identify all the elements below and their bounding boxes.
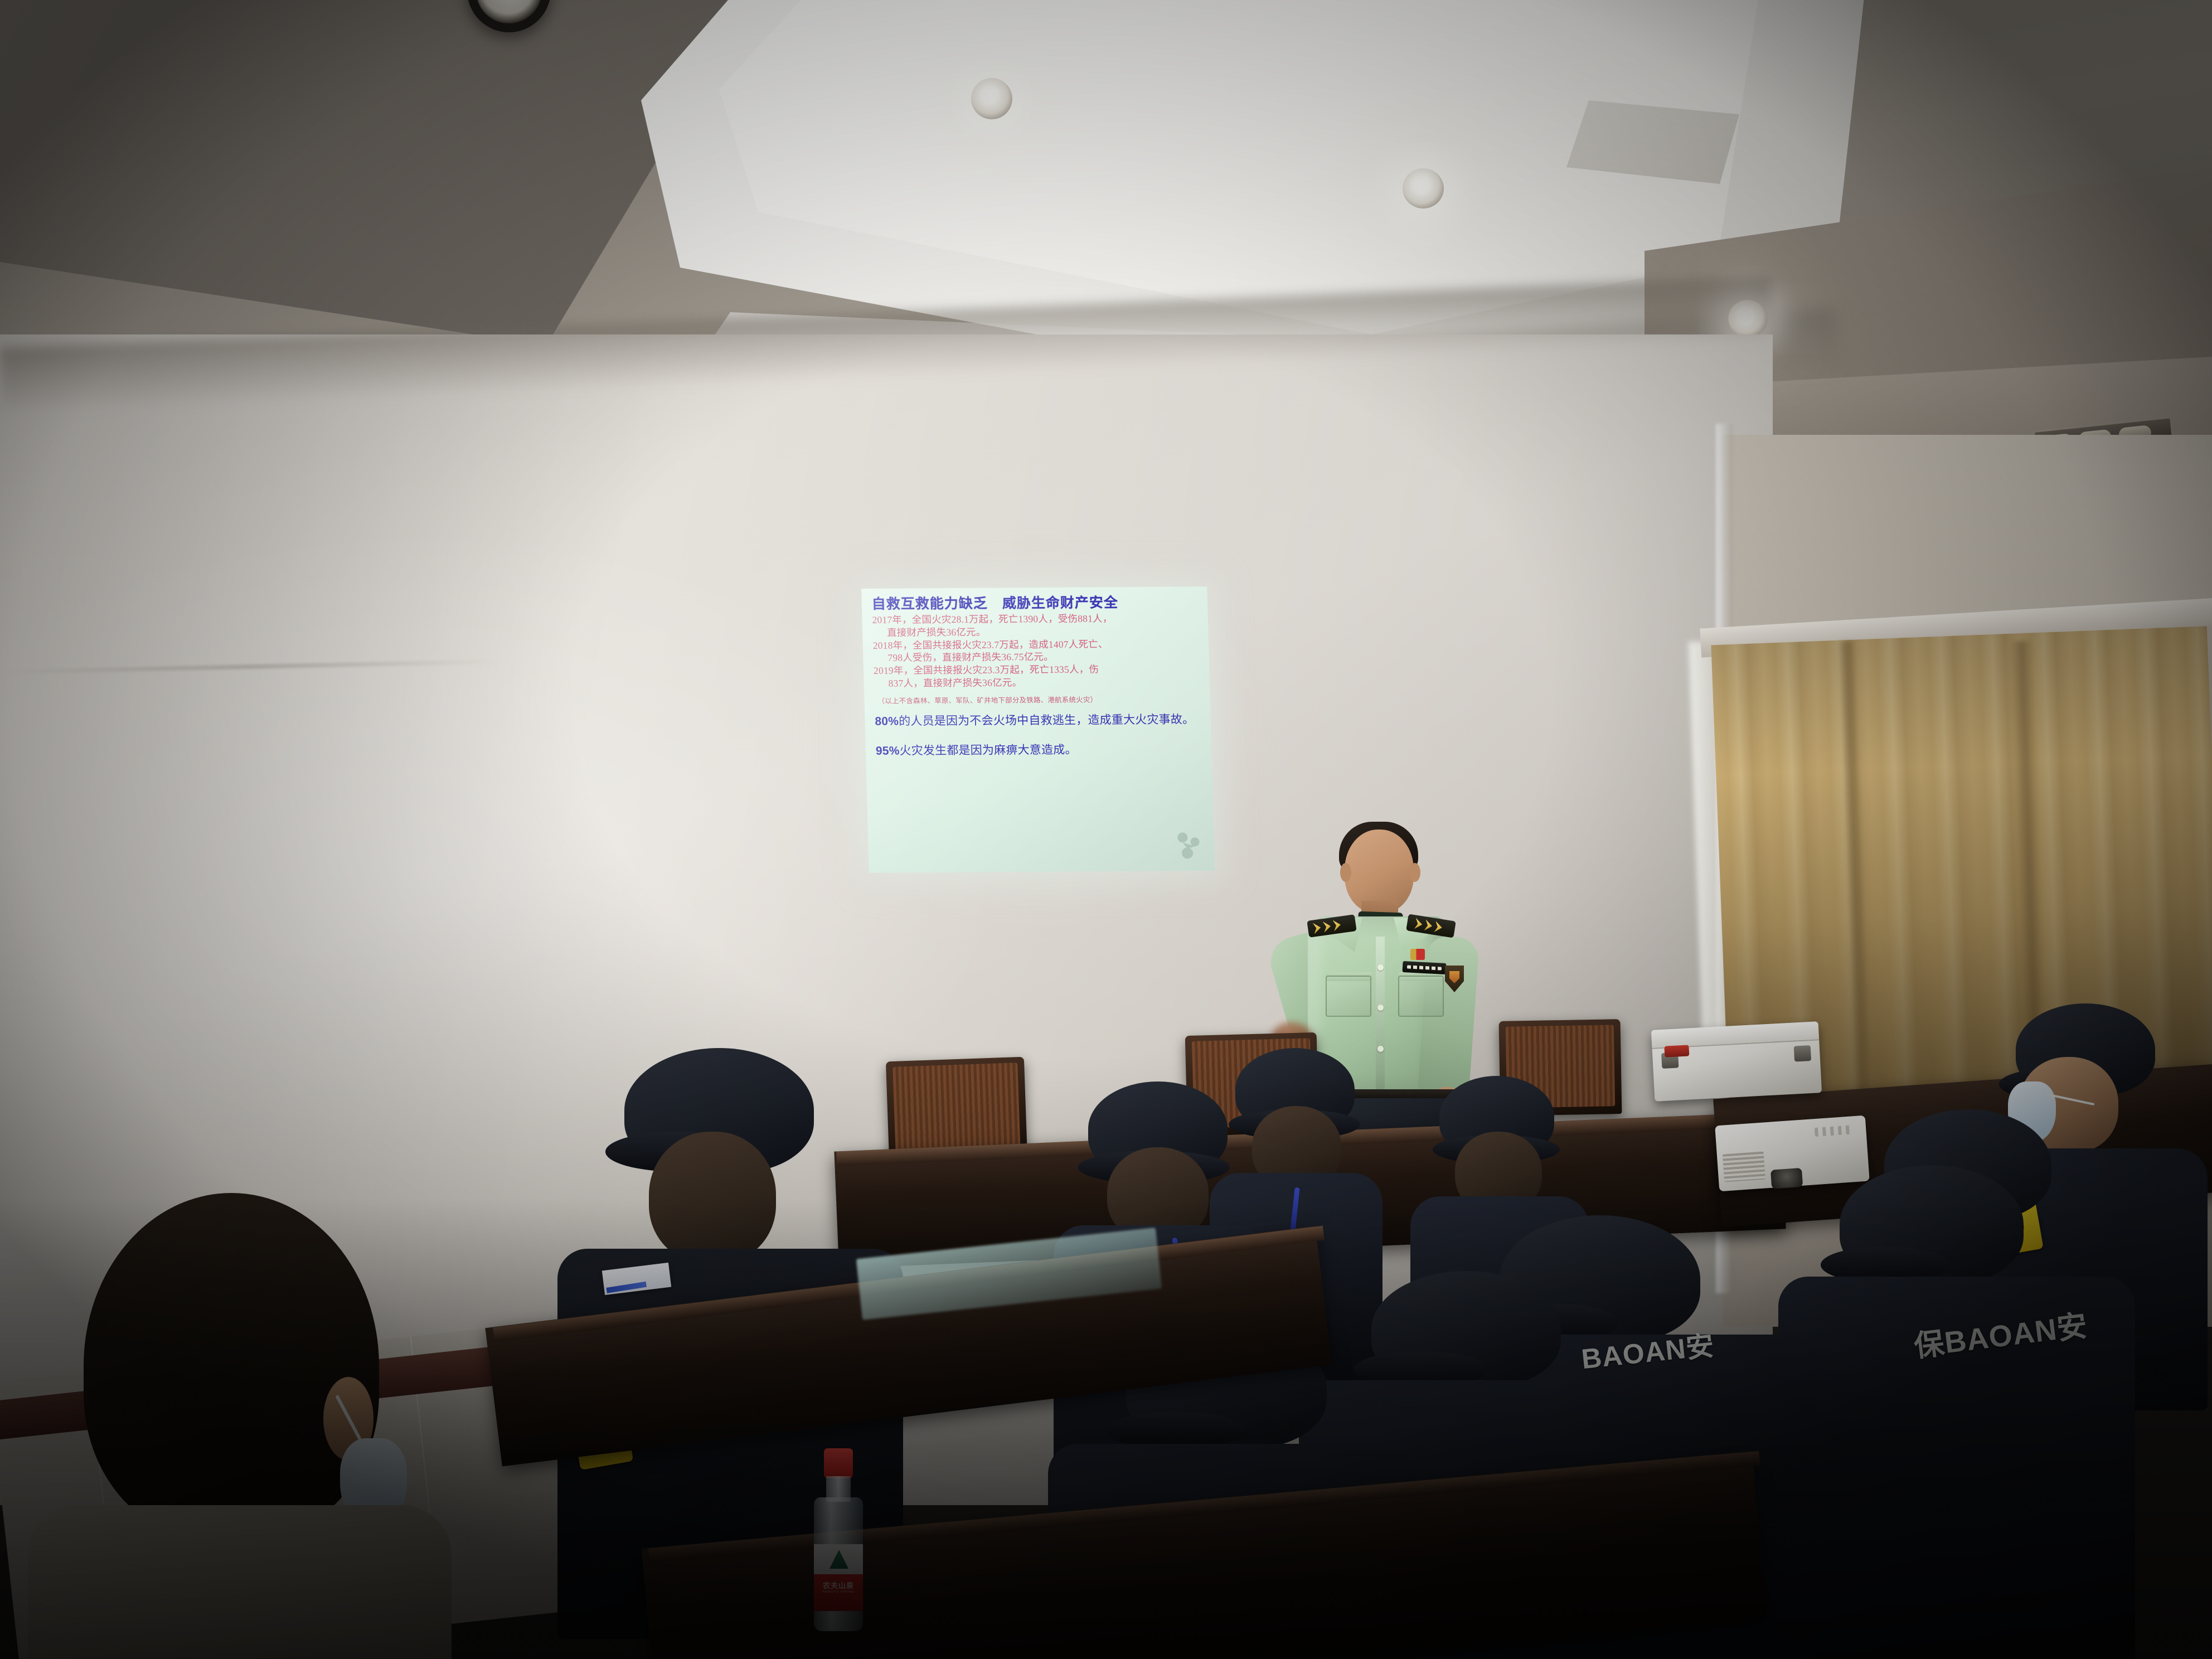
stat-2019-line2: 837人，直接财产损失36亿元。 [874,675,1201,690]
slide-highlight-1-percent: 80% [875,715,899,727]
case-handle[interactable] [1664,1045,1689,1057]
head [649,1132,776,1263]
projector[interactable] [1715,1115,1870,1192]
projector-lens [1770,1168,1803,1189]
bottle-brand-cn: 农夫山泉 [823,1582,854,1590]
case-latch-right[interactable] [1794,1045,1811,1062]
slide-highlight-2: 95%火灾发生都是因为麻痹大意造成。 [876,742,1203,758]
bottle-brand-en: NONGFU SPRING [814,1590,863,1594]
water-bottle[interactable]: 农夫山泉 NONGFU SPRING [809,1448,867,1632]
head-hair [84,1193,379,1539]
slide-highlight-2-text: 火灾发生都是因为麻痹大意造成。 [899,743,1077,757]
projector-vent-grill [1723,1152,1765,1182]
chair-slats [892,1063,1020,1154]
presenter-ear-right [1409,863,1420,882]
projector-buttons[interactable] [1815,1125,1854,1137]
equipment-flight-case[interactable] [1651,1021,1822,1102]
bottle-brand-name: 农夫山泉 NONGFU SPRING [814,1580,863,1594]
presenter-button-3 [1377,1046,1384,1052]
slide-title-right: 威胁生命财产安全 [1002,595,1118,611]
ceiling-downlight-2 [1403,168,1444,208]
slide-title: 自救互救能力缺乏威胁生命财产安全 [871,594,1199,612]
bottle-cap[interactable] [824,1448,853,1478]
ceiling-downlight-1 [971,78,1012,119]
beige-jacket [28,1505,452,1659]
presenter-pocket-right [1398,976,1444,1017]
slide-watermark-logo [1173,828,1205,863]
presenter-name-tag [1403,961,1447,974]
slide-statistics: 2017年，全国火灾28.1万起，死亡1390人，受伤881人， 直接财产损失3… [872,612,1201,690]
slide-highlight-2-percent: 95% [876,744,900,757]
meeting-room-photo: 自救互救能力缺乏威胁生命财产安全 2017年，全国火灾28.1万起，死亡1390… [0,0,2212,1659]
slide-highlight-1: 80%的人员是因为不会火场中自救逃生，造成重大火灾事故。 [875,712,1202,729]
presenter-button-2 [1377,1005,1384,1011]
projected-slide: 自救互救能力缺乏威胁生命财产安全 2017年，全国火灾28.1万起，死亡1390… [861,586,1215,873]
slide-highlight-1-text: 的人员是因为不会火场中自救逃生，造成重大火灾事故。 [899,712,1195,727]
slide-title-left: 自救互救能力缺乏 [871,596,988,612]
presenter-pocket-left [1326,976,1371,1017]
presenter-flag-badge [1410,949,1425,960]
presenter-button-1 [1377,964,1384,971]
presenter-ear-left [1340,863,1351,882]
slide-footnote: （以上不含森林、草原、军队、矿井地下部分及铁路、港航系统火灾） [874,693,1201,706]
presenter-shirt-placket [1376,937,1385,1096]
